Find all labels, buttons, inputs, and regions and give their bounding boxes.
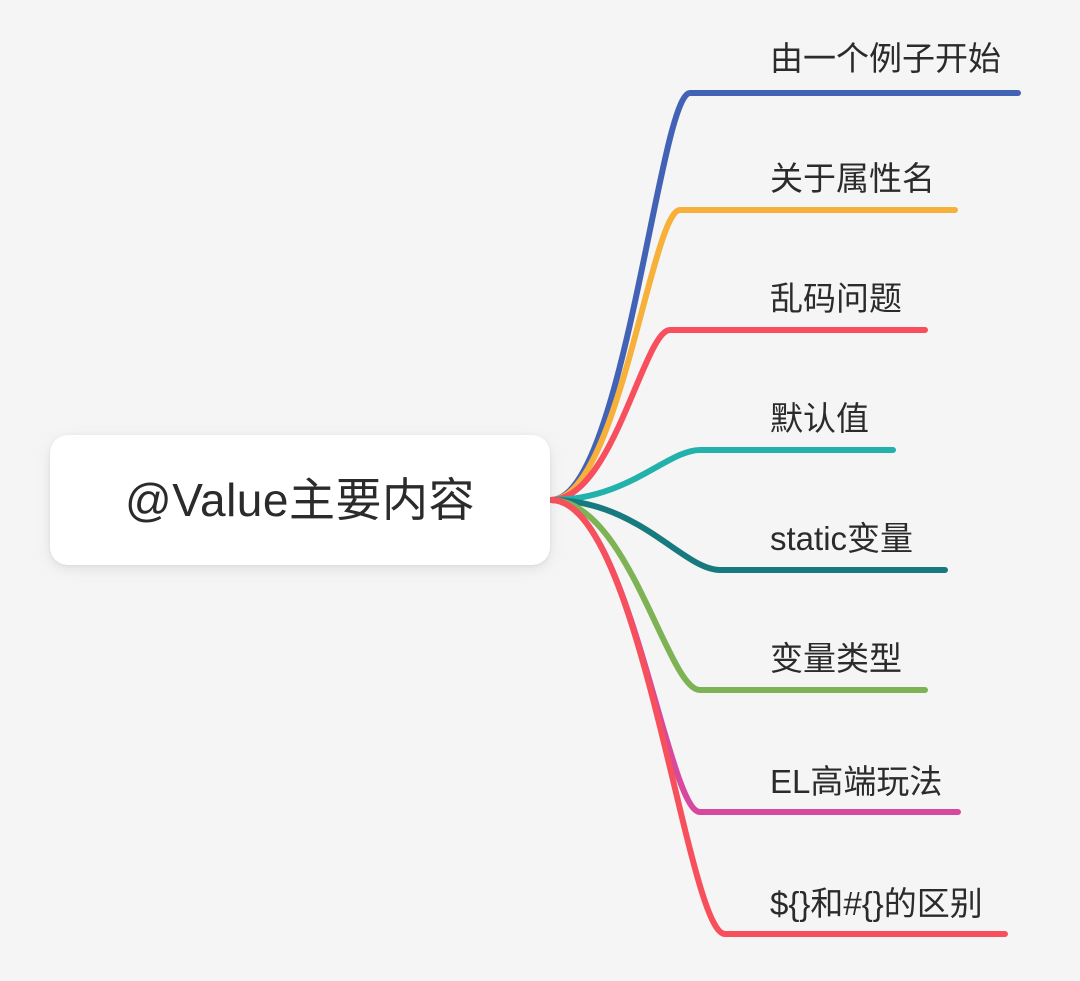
branch-label-4[interactable]: 默认值 [770, 400, 869, 438]
branch-path-4 [551, 450, 893, 500]
branch-path-8 [551, 500, 1005, 934]
branch-label-2[interactable]: 关于属性名 [770, 160, 935, 198]
branch-path-2 [551, 210, 955, 500]
branch-label-6[interactable]: 变量类型 [770, 640, 902, 678]
branch-label-7[interactable]: EL高端玩法 [770, 763, 942, 801]
branch-label-1[interactable]: 由一个例子开始 [770, 40, 1001, 78]
central-node[interactable]: @Value主要内容 [50, 435, 550, 565]
branch-label-5[interactable]: static变量 [770, 520, 913, 558]
mindmap-canvas: @Value主要内容 由一个例子开始 关于属性名 乱码问题 默认值 static… [0, 0, 1080, 981]
branch-label-3[interactable]: 乱码问题 [770, 280, 902, 318]
branch-label-8[interactable]: ${}和#{}的区别 [770, 885, 983, 923]
central-node-label: @Value主要内容 [125, 477, 475, 523]
